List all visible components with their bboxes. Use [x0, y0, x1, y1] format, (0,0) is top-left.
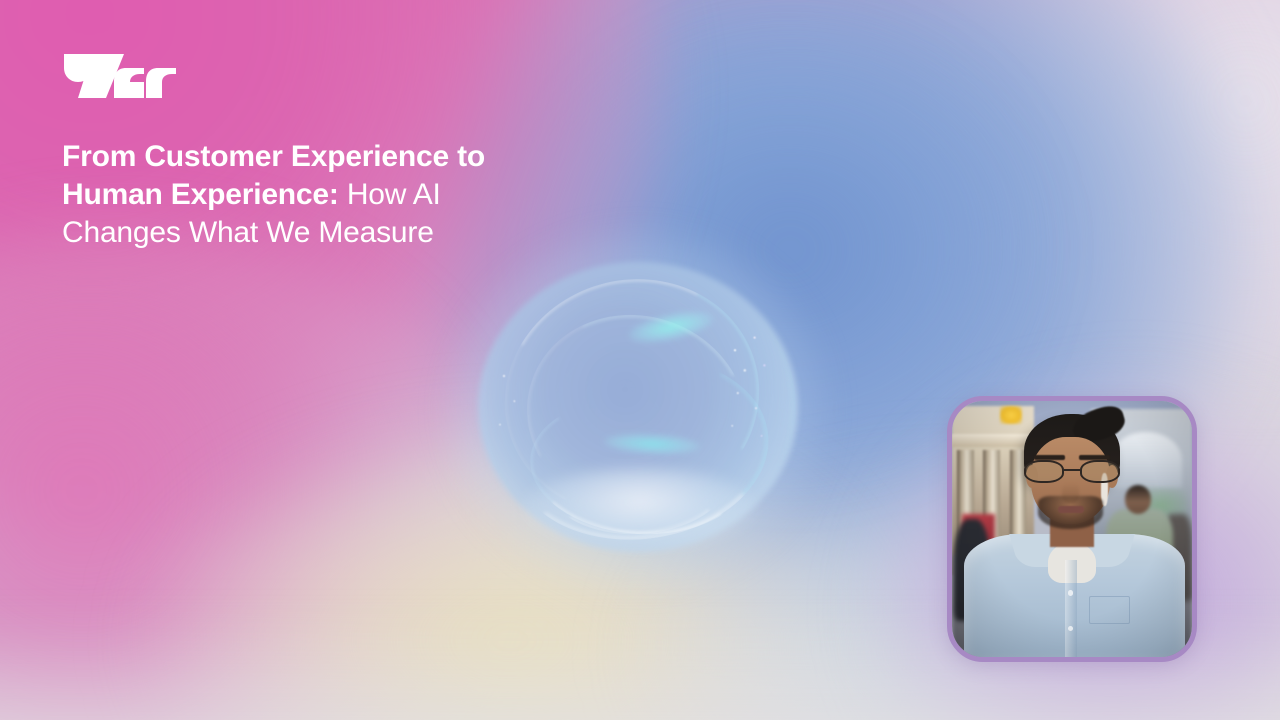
orb-bottom-glow [522, 468, 758, 550]
title-line-3-text: Changes What We Measure [62, 216, 434, 249]
photo-vignette [952, 401, 1192, 657]
title-line-3: Changes What We Measure [62, 214, 682, 252]
orb-sparkle-cluster [488, 358, 528, 448]
speaker-video-thumbnail[interactable] [947, 396, 1197, 662]
speaker-photo [952, 401, 1192, 657]
presentation-slide: From Customer Experience to Human Experi… [0, 0, 1280, 720]
yrr-logo [62, 52, 178, 100]
background-blob-lilac-top-right [900, 0, 1280, 380]
title-line-1-text: From Customer Experience to [62, 140, 485, 173]
title-line-2-light-text: How AI [339, 178, 441, 211]
slide-title: From Customer Experience to Human Experi… [62, 138, 682, 252]
title-line-2-bold-text: Human Experience: [62, 178, 339, 211]
title-line-2: Human Experience: How AI [62, 176, 682, 214]
orb-sparkle-cluster [714, 320, 784, 446]
title-line-1: From Customer Experience to [62, 138, 682, 176]
background-blob-pink-lower [0, 230, 500, 720]
iridescent-orb [478, 262, 798, 552]
